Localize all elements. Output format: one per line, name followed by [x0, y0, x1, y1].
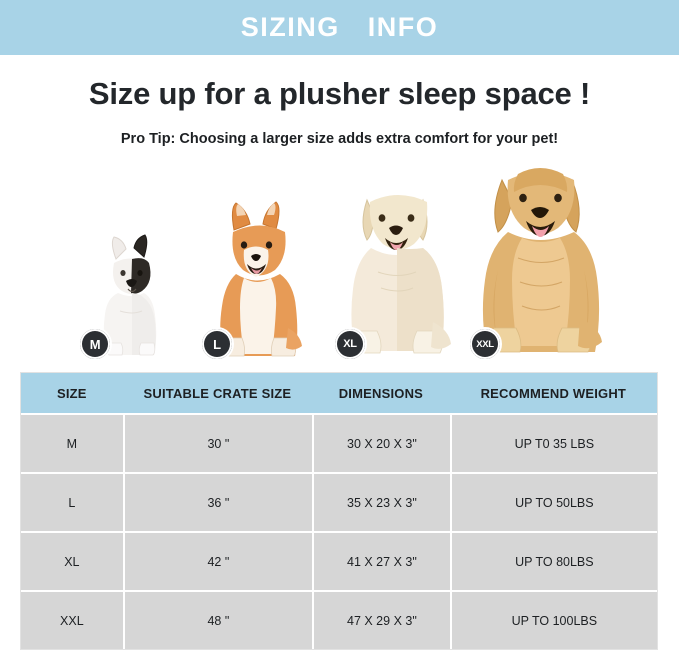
pro-tip-text: Pro Tip: Choosing a larger size adds ext… [0, 131, 679, 147]
cell-crate-size: 36 " [123, 474, 312, 531]
dog-size-comparison: M [0, 158, 679, 363]
cell-dimensions: 47 X 29 X 3" [312, 592, 450, 649]
cell-crate-size: 42 " [123, 533, 312, 590]
sizing-table: SIZE SUITABLE CRATE SIZE DIMENSIONS RECO… [20, 372, 658, 650]
size-figure-xl: XL [333, 176, 463, 363]
cell-dimensions: 35 X 23 X 3" [312, 474, 450, 531]
cell-size: XL [21, 533, 123, 590]
size-figure-xxl: XXL [468, 158, 613, 363]
cell-weight: UP TO 80LBS [450, 533, 657, 590]
size-badge-m: M [78, 327, 112, 361]
size-badge-xxl: XXL [468, 327, 502, 361]
table-row: XXL 48 " 47 X 29 X 3" UP TO 100LBS [21, 590, 657, 649]
cell-weight: UP TO 100LBS [450, 592, 657, 649]
cell-dimensions: 41 X 27 X 3" [312, 533, 450, 590]
size-figure-m: M [78, 223, 183, 363]
cell-weight: UP TO 50LBS [450, 474, 657, 531]
cell-size: XXL [21, 592, 123, 649]
cell-size: L [21, 474, 123, 531]
table-header-crate-size: SUITABLE CRATE SIZE [123, 373, 312, 413]
table-header-row: SIZE SUITABLE CRATE SIZE DIMENSIONS RECO… [21, 373, 657, 413]
table-row: M 30 " 30 X 20 X 3" UP T0 35 LBS [21, 413, 657, 472]
table-row: L 36 " 35 X 23 X 3" UP TO 50LBS [21, 472, 657, 531]
cell-dimensions: 30 X 20 X 3" [312, 415, 450, 472]
table-row: XL 42 " 41 X 27 X 3" UP TO 80LBS [21, 531, 657, 590]
size-badge-xl: XL [333, 327, 367, 361]
table-header-weight: RECOMMEND WEIGHT [450, 373, 657, 413]
page-banner: SIZING INFO [0, 0, 679, 55]
table-header-size: SIZE [21, 373, 123, 413]
table-header-dimensions: DIMENSIONS [312, 373, 450, 413]
sizing-info-page: SIZING INFO Size up for a plusher sleep … [0, 0, 679, 654]
size-figure-l: L [200, 198, 318, 363]
page-title: Size up for a plusher sleep space ! [0, 76, 679, 112]
size-badge-l: L [200, 327, 234, 361]
cell-size: M [21, 415, 123, 472]
banner-title: SIZING INFO [241, 12, 439, 43]
cell-weight: UP T0 35 LBS [450, 415, 657, 472]
cell-crate-size: 30 " [123, 415, 312, 472]
cell-crate-size: 48 " [123, 592, 312, 649]
